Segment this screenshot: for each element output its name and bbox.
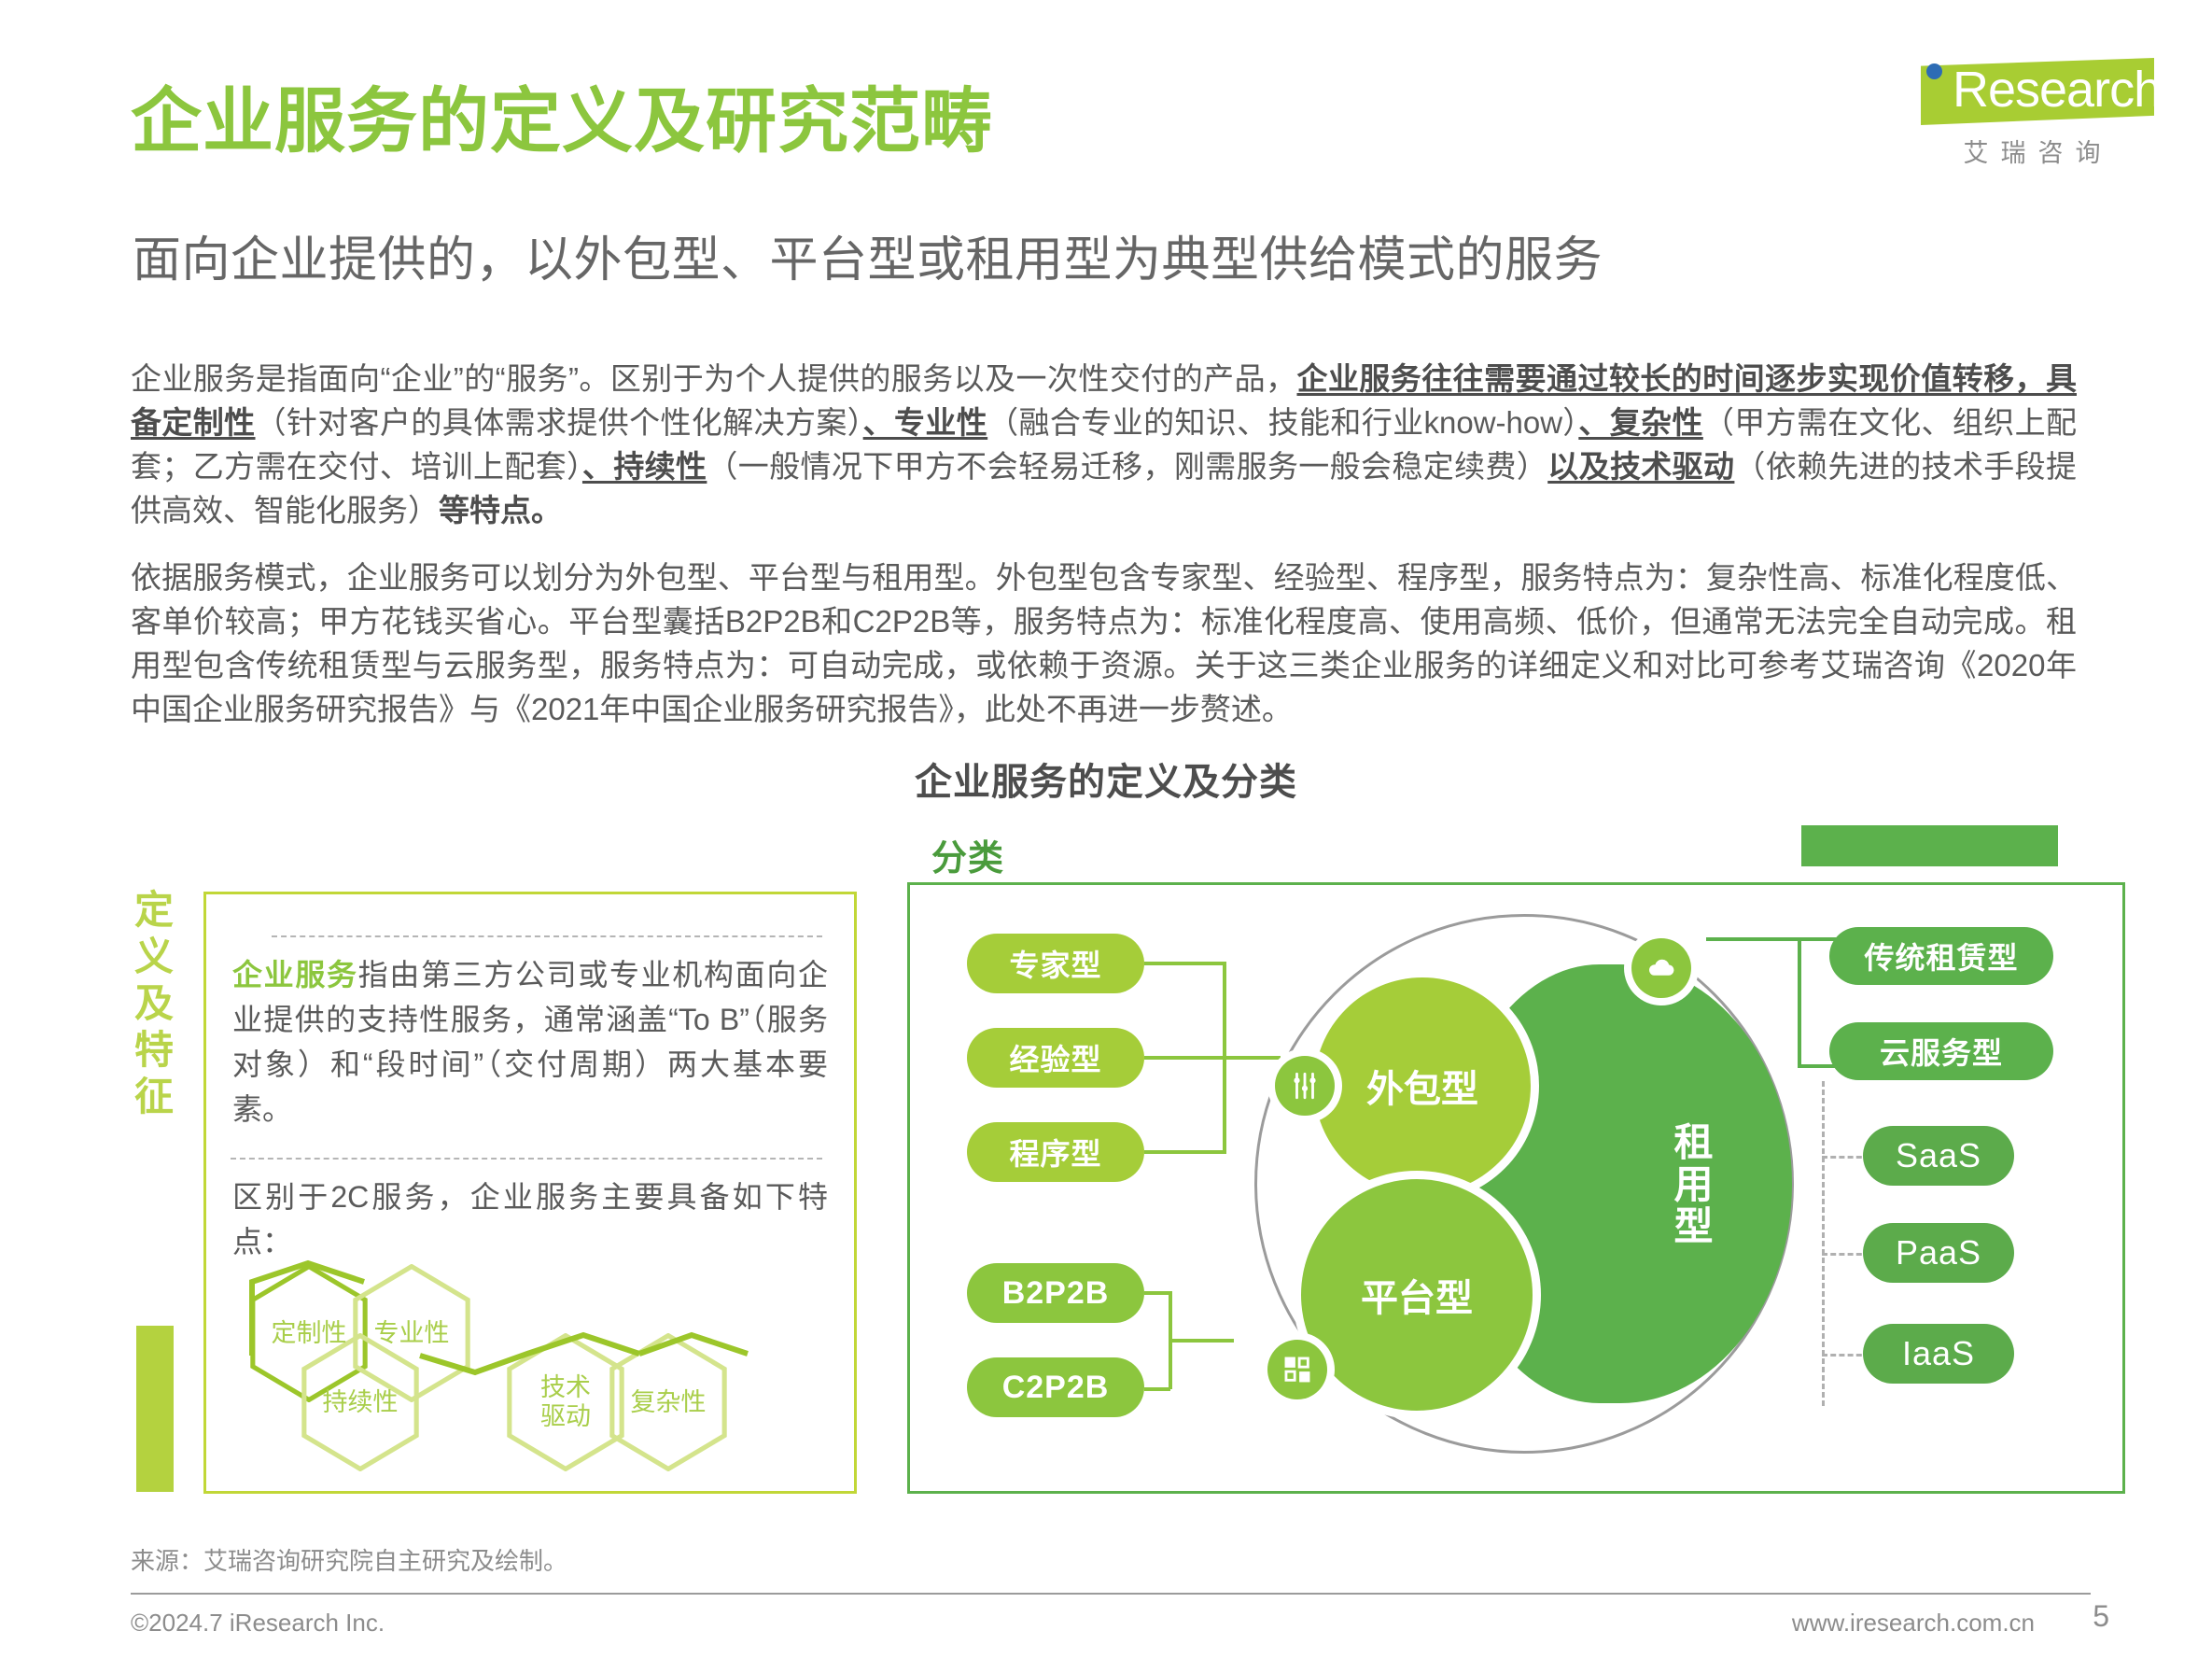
source-note: 来源：艾瑞咨询研究院自主研究及绘制。	[131, 1542, 567, 1577]
p1-seg-a: 企业服务是指面向“企业”的“服务”。区别于为个人提供的服务以及一次性交付的产品，	[131, 361, 1296, 396]
pill-label: B2P2B	[1002, 1275, 1110, 1312]
pill-chuantongzulinxing[interactable]: 传统租赁型	[1829, 927, 2053, 985]
copyright-text: ©2024.7 iResearch Inc.	[131, 1609, 385, 1638]
definition-divider-top	[272, 935, 822, 937]
p1-bold-4: 、持续性	[582, 449, 707, 484]
hexagon-jishuqudong: 技术 驱动	[506, 1333, 625, 1471]
cloud-icon	[1631, 938, 1691, 998]
pill-label: 经验型	[1009, 1036, 1101, 1079]
pill-zhuanjiaxing[interactable]: 专家型	[967, 934, 1144, 993]
classification-label: 分类	[931, 829, 1004, 880]
hexagon-label: 技术 驱动	[540, 1373, 591, 1431]
p1-bold-3: 、复杂性	[1578, 405, 1703, 440]
p1-bold-5: 以及技术驱动	[1547, 449, 1734, 484]
classification-top-bar	[1801, 825, 2058, 866]
hexagon-label: 持续性	[323, 1388, 399, 1417]
hexagon-cluster: 定制性 专业性 持续性 技术 驱动 复杂性	[229, 1258, 835, 1492]
pill-paas[interactable]: PaaS	[1863, 1223, 2014, 1283]
logo-chinese-name: 艾瑞咨询	[1906, 133, 2158, 169]
hexagon-label: 复杂性	[631, 1388, 707, 1417]
p1-note-4: （一般情况下甲方不会轻易迁移，刚需服务一般会稳定续费）	[707, 449, 1547, 484]
pill-chengxuxing[interactable]: 程序型	[967, 1122, 1144, 1182]
body-paragraph-1: 企业服务是指面向“企业”的“服务”。区别于为个人提供的服务以及一次性交付的产品，…	[131, 357, 2077, 532]
circle-rental-label: 租用型	[1527, 1121, 1714, 1247]
pill-label: PaaS	[1896, 1233, 1981, 1272]
definition-text-secondary: 区别于2C服务，企业服务主要具备如下特点：	[232, 1174, 828, 1264]
pill-yunfuwuxing[interactable]: 云服务型	[1829, 1022, 2053, 1080]
p1-note-1: （针对客户的具体需求提供个性化解决方案）	[256, 405, 863, 440]
logo-i-stem-icon	[1927, 84, 1941, 121]
circle-outsourcing-label: 外包型	[1366, 1059, 1478, 1113]
connector-platform-bot	[1144, 1387, 1170, 1391]
connector-rental-vertical	[1798, 937, 1801, 1068]
pill-label: 专家型	[1009, 942, 1101, 985]
definition-text-primary: 企业服务指由第三方公司或专业机构面向企业提供的支持性服务，通常涵盖“To B”（…	[232, 952, 828, 1132]
pill-label: 传统租赁型	[1864, 935, 2018, 977]
website-url: www.iresearch.com.cn	[1792, 1609, 2035, 1638]
connector-outsourcing-top	[1144, 962, 1225, 965]
pill-iaas[interactable]: IaaS	[1863, 1324, 2014, 1384]
venn-diagram: 租用型 外包型 平台型	[1241, 901, 1811, 1470]
logo-mark: Research	[1906, 49, 2158, 129]
connector-platform-out	[1169, 1339, 1234, 1343]
definition-accent-bar	[136, 1326, 174, 1492]
sliders-icon	[1275, 1056, 1335, 1116]
circle-platform-label: 平台型	[1361, 1268, 1473, 1322]
connector-platform-top	[1144, 1291, 1170, 1295]
p1-bold-2: 、专业性	[863, 405, 988, 440]
connector-rental-out	[1706, 937, 1798, 941]
hexagon-fuzaxing: 复杂性	[609, 1333, 728, 1471]
definition-highlight: 企业服务	[232, 958, 358, 991]
pill-jingyanxing[interactable]: 经验型	[967, 1028, 1144, 1088]
figure-title: 企业服务的定义及分类	[0, 752, 2212, 806]
slide-page: Research 艾瑞咨询 企业服务的定义及研究范畴 面向企业提供的，以外包型、…	[0, 0, 2212, 1659]
definition-divider-mid	[231, 1158, 822, 1160]
pill-c2p2b[interactable]: C2P2B	[967, 1357, 1144, 1417]
connector-cloud-vertical	[1822, 1081, 1825, 1406]
logo-wordmark: Research	[1953, 62, 2161, 118]
hexagon-label: 专业性	[374, 1319, 450, 1348]
page-title: 企业服务的定义及研究范畴	[131, 82, 993, 162]
body-paragraph-2: 依据服务模式，企业服务可以划分为外包型、平台型与租用型。外包型包含专家型、经验型…	[131, 555, 2077, 731]
pill-label: SaaS	[1896, 1136, 1981, 1175]
pill-label: 云服务型	[1880, 1030, 2003, 1073]
pill-label: 程序型	[1009, 1131, 1101, 1174]
definition-vertical-label: 定义及特征	[129, 887, 181, 1120]
pill-saas[interactable]: SaaS	[1863, 1126, 2014, 1186]
page-subtitle: 面向企业提供的，以外包型、平台型或租用型为典型供给模式的服务	[133, 232, 1603, 289]
circle-outsourcing: 外包型	[1314, 977, 1531, 1194]
pill-label: C2P2B	[1002, 1370, 1110, 1406]
grid-icon	[1267, 1340, 1327, 1399]
p1-bold-6: 等特点。	[439, 493, 562, 527]
footer-divider	[131, 1593, 2091, 1595]
connector-outsourcing-bot	[1144, 1150, 1225, 1154]
logo-i-dot-icon	[1926, 63, 1942, 79]
pill-label: IaaS	[1902, 1334, 1975, 1373]
p1-note-2: （融合专业的知识、技能和行业know-how）	[987, 405, 1578, 440]
page-number: 5	[2093, 1599, 2109, 1634]
pill-b2p2b[interactable]: B2P2B	[967, 1263, 1144, 1323]
iresearch-logo: Research 艾瑞咨询	[1906, 49, 2158, 169]
definition-box: 企业服务指由第三方公司或专业机构面向企业提供的支持性服务，通常涵盖“To B”（…	[203, 892, 857, 1494]
circle-platform: 平台型	[1301, 1179, 1533, 1411]
connector-outsourcing-mid	[1144, 1056, 1225, 1060]
hexagon-chixuxing: 持续性	[301, 1333, 420, 1471]
hexagon-label: 定制性	[272, 1319, 347, 1348]
